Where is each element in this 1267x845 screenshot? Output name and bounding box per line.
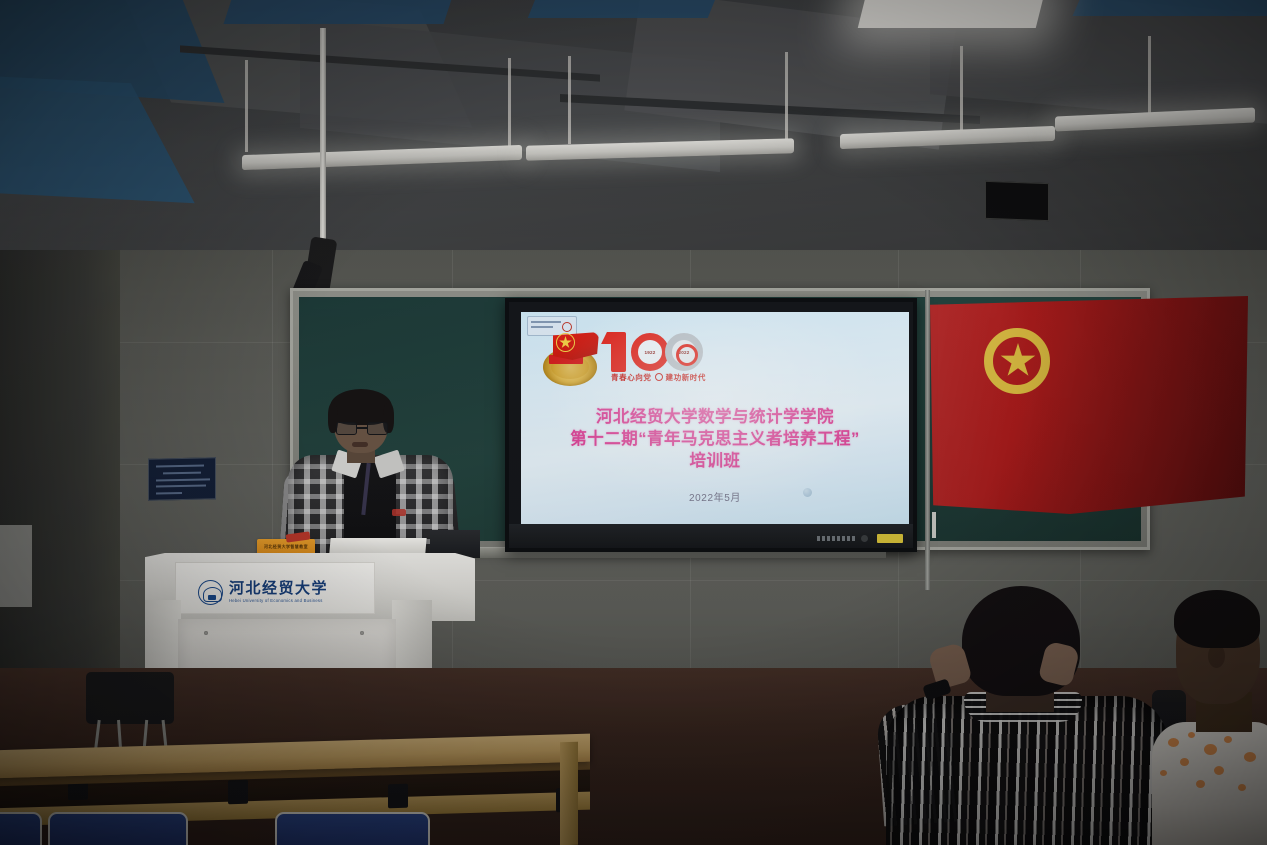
flag-pole	[925, 290, 930, 590]
student-b-hair	[1174, 590, 1260, 648]
podium-institution-cn: 河北经贸大学	[229, 581, 328, 596]
display-bezel	[509, 524, 913, 548]
slide-title-line3: 培训班	[521, 450, 909, 472]
classroom-scene: 1922 2022 青春心向党建功新时代 河北经贸大学数学与统计学学院 第十二期…	[0, 0, 1267, 845]
seat	[48, 812, 188, 845]
interactive-whiteboard-display[interactable]: 1922 2022 青春心向党建功新时代 河北经贸大学数学与统计学学院 第十二期…	[505, 298, 917, 552]
seat	[0, 812, 42, 845]
emblem-slogan: 青春心向党建功新时代	[611, 372, 706, 383]
light-hanger-rod	[960, 46, 963, 132]
podium-papers	[329, 538, 426, 553]
year-end: 2022	[678, 350, 689, 355]
light-hanger-rod	[245, 60, 248, 152]
podium-university-logo: 河北经贸大学 Hebei University of Economics and…	[198, 578, 358, 606]
year-start: 1922	[644, 350, 655, 355]
wall-left-dark	[0, 250, 120, 680]
ceiling-panel-blue	[224, 0, 457, 24]
display-power-button[interactable]	[861, 535, 868, 542]
chair-legs	[96, 720, 166, 748]
desk-bracket	[228, 780, 248, 805]
digit-one	[611, 332, 626, 372]
display-control-buttons[interactable]	[817, 536, 855, 541]
slogan-separator-icon	[655, 373, 663, 381]
light-hanger-rod	[1148, 36, 1151, 114]
ceiling-panel-blue	[1072, 0, 1267, 16]
seat	[275, 812, 430, 845]
ceiling-panel-blue	[528, 0, 723, 18]
presentation-slide: 1922 2022 青春心向党建功新时代 河北经贸大学数学与统计学学院 第十二期…	[521, 312, 909, 524]
slide-title-line1: 河北经贸大学数学与统计学学院	[521, 406, 909, 428]
fluorescent-light-fixture	[1055, 107, 1255, 131]
anniversary-emblem: 1922 2022 青春心向党建功新时代	[539, 328, 739, 392]
desk-bracket	[388, 784, 408, 809]
podium-institution-en: Hebei University of Economics and Busine…	[229, 598, 328, 603]
fluorescent-light-fixture	[242, 145, 522, 170]
digit-zero-first: 1922	[631, 333, 669, 371]
podium-placard-text: 河北经贸大学智慧教室	[264, 544, 308, 550]
digit-zero-second: 2022	[665, 333, 703, 371]
wall-whiteboard-edge	[0, 525, 32, 607]
presentation-screen[interactable]: 1922 2022 青春心向党建功新时代 河北经贸大学数学与统计学学院 第十二期…	[521, 312, 909, 524]
display-brand-label	[877, 534, 903, 543]
student-graffiti-shirt	[1152, 596, 1267, 845]
light-hanger-rod	[508, 58, 511, 152]
ceiling-pole	[320, 28, 326, 250]
chair-backrest	[86, 672, 174, 724]
desk-end-panel	[560, 742, 578, 845]
skylight	[858, 0, 1044, 28]
slogan-first: 青春心向党	[611, 373, 652, 382]
slide-title: 河北经贸大学数学与统计学学院 第十二期“青年马克思主义者培养工程” 培训班	[521, 406, 909, 472]
communist-youth-league-flag	[930, 296, 1248, 514]
university-seal-icon	[198, 580, 223, 605]
cyl-wreath-emblem-icon	[539, 332, 603, 388]
hundred-numeral: 1922 2022	[609, 330, 737, 376]
light-hanger-rod	[785, 52, 788, 144]
student-b-shirt	[1152, 722, 1267, 845]
student-striped-shirt	[880, 586, 1170, 845]
slide-decoration-dot	[803, 488, 812, 497]
slide-title-line2: 第十二期“青年马克思主义者培养工程”	[521, 428, 909, 450]
flag-clip	[932, 512, 936, 538]
presenter-shirt-badge	[392, 509, 406, 516]
wall-sign-plaque	[148, 457, 216, 500]
light-hanger-rod	[568, 56, 571, 144]
presenter-mouth	[352, 442, 368, 447]
slide-date: 2022年5月	[521, 489, 909, 504]
presenter-at-podium	[288, 393, 453, 558]
slogan-second: 建功新时代	[666, 373, 707, 382]
eyeglasses-icon	[336, 422, 388, 435]
wall-mounted-speaker	[985, 181, 1049, 221]
